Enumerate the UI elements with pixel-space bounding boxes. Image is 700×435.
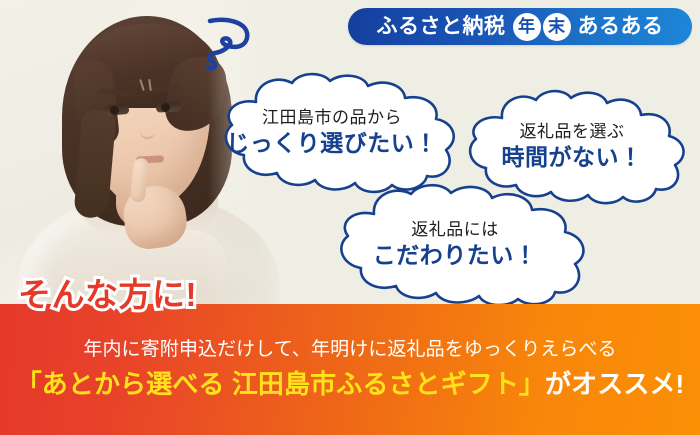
bubble-1-line2-text: じっくり選びたい！ [226,130,438,156]
banner-text-before: ふるさと納税 [377,16,506,37]
banner-circle-2: 末 [543,13,571,41]
banner-circle-1: 年 [513,13,541,41]
callout-sonna-kata-ni: そんな方に! [18,278,197,311]
bubble-1-line2: じっくり選びたい！ [223,130,441,157]
bubble-1-line1: 江田島市の品から [262,108,402,128]
bubble-2-line1: 返礼品を選ぶ [520,122,625,142]
thought-bubble-1: 江田島市の品から じっくり選びたい！ [198,72,466,194]
bubble-3-text: 返礼品には こだわりたい！ [312,182,598,308]
promo-banner-root: ふるさと納税 年 末 あるある 江田島市の品から じっくり選びたい！ 返礼品を選… [0,0,700,435]
bubble-2-line2-text: 時間がない！ [502,144,643,170]
bottom-cta-band: 年内に寄附申込だけして、年明けに返礼品をゆっくりえらべる 「あとから選べる 江田… [0,304,700,435]
cta-line-2-suffix: がオススメ! [545,369,684,399]
bubble-3-line2: こだわりたい！ [370,242,541,269]
bottom-cta-content: 年内に寄附申込だけして、年明けに返礼品をゆっくりえらべる 「あとから選べる 江田… [0,304,700,435]
photo-pupil-left [110,106,119,115]
photo-pupil-right [161,103,170,112]
bubble-3-line1: 返礼品には [411,220,499,240]
banner-circle-group: 年 末 [513,13,571,41]
cta-line-2: 「あとから選べる 江田島市ふるさとギフト」がオススメ! [16,369,685,400]
bubble-1-text: 江田島市の品から じっくり選びたい！ [198,72,466,194]
bubble-2-line2: 時間がない！ [499,144,646,171]
banner-text-after: あるある [578,16,664,37]
header-pill-banner: ふるさと納税 年 末 あるある [348,8,692,45]
thought-bubble-3: 返礼品には こだわりたい！ [312,182,598,308]
cta-line-1: 年内に寄附申込だけして、年明けに返礼品をゆっくりえらべる [83,339,616,362]
cta-line-2-highlight: 「あとから選べる 江田島市ふるさとギフト」 [16,369,545,399]
bubble-3-line2-text: こだわりたい！ [373,242,538,268]
thinking-squiggle-icon [198,12,264,76]
